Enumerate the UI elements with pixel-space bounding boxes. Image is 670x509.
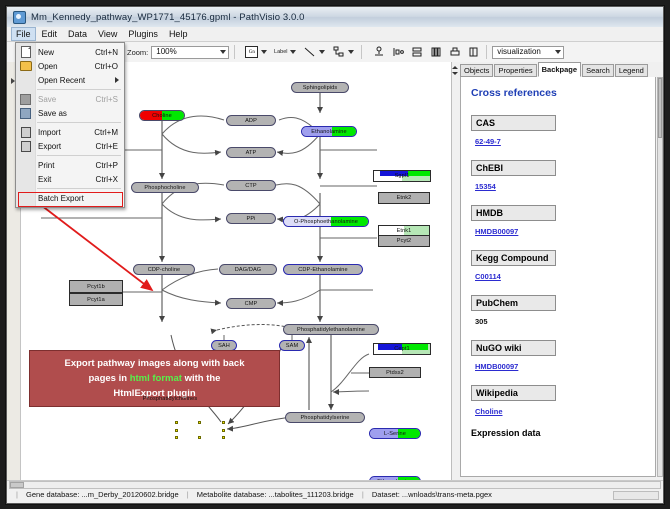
menu-item-open[interactable]: Open Ctrl+O [16,59,124,73]
status-text: | Gene database: ...m_Derby_20120602.bri… [13,490,495,499]
xref-pubchem: PubChem 305 [471,293,645,333]
xref-value-link[interactable]: HMDB00097 [475,362,518,371]
menu-item-new[interactable]: New Ctrl+N [16,45,124,59]
horizontal-scrollbar[interactable] [9,481,661,489]
xref-value-link[interactable]: Choline [475,407,503,416]
node-label: Ptdss2 [386,370,404,376]
label-tool-icon[interactable]: Label [273,45,288,60]
menu-help[interactable]: Help [164,27,193,41]
xref-hmdb: HMDB HMDB00097 [471,203,645,243]
tab-search[interactable]: Search [582,64,614,77]
new-document-icon [19,47,32,58]
cross-references-heading: Cross references [471,87,645,99]
side-panel-scrollbar[interactable] [657,77,663,477]
status-separator: | [187,490,189,499]
xref-nugo-wiki: NuGO wiki HMDB00097 [471,338,645,378]
tab-backpage[interactable]: Backpage [538,62,581,77]
node-label: ATP [246,150,257,156]
xref-chebi: ChEBI 15354 [471,158,645,198]
open-folder-icon [19,61,32,72]
node-label: PPi [246,216,255,222]
gene-product-tool-icon[interactable]: Gn [244,45,259,60]
menu-item-label: New [38,48,54,57]
node-label: DAG/DAG [235,267,262,273]
node-label: Phosphatidylserine [300,415,349,421]
menu-plugins[interactable]: Plugins [123,27,163,41]
node-label: SAH [218,343,230,349]
status-metabolite-database: Metabolite database: ...tabolites_111203… [197,490,354,499]
xref-label: PubChem [471,295,556,311]
node-label: CMP [245,301,258,307]
menu-separator [37,89,121,90]
status-gene-database: Gene database: ...m_Derby_20120602.bridg… [26,490,179,499]
menu-item-save: Save Ctrl+S [16,92,124,106]
stack-horizontal-tool-icon[interactable] [428,45,443,60]
node-label: L-Serine [384,431,406,437]
menu-item-save-as[interactable]: Save as [16,106,124,120]
menu-item-label: Exit [38,175,51,184]
line-tool-icon[interactable] [302,45,317,60]
status-dataset: Dataset: ...wnloads\trans-meta.pgex [372,490,492,499]
sidepanel-tool-icon[interactable] [466,45,481,60]
menu-file[interactable]: File [11,27,36,41]
menu-item-label: Import [38,128,61,137]
menu-item-open-recent[interactable]: Open Recent [16,73,124,87]
xref-label: Wikipedia [471,385,556,401]
toolbar-divider-3 [486,45,487,59]
node-label: CTP [245,183,257,189]
menu-item-label: Print [38,161,54,170]
tab-properties[interactable]: Properties [494,64,536,77]
side-panel-tabs: Objects Properties Backpage Search Legen… [460,64,663,77]
zoom-combobox[interactable]: 100% [151,46,229,59]
chevron-down-icon [555,50,561,54]
menu-bar: File Edit Data View Plugins Help [7,27,663,42]
menu-item-accelerator: Ctrl+O [95,62,118,71]
menu-item-accelerator: Ctrl+N [95,48,118,57]
node-label: Etnk2 [397,195,412,201]
label-dropdown-icon[interactable] [290,50,296,54]
node-label: Sgpl1 [395,173,410,179]
menu-item-exit[interactable]: Exit Ctrl+X [16,172,124,186]
line-dropdown-icon[interactable] [319,50,325,54]
node-label: SAM [286,343,298,349]
menu-item-import[interactable]: Import Ctrl+M [16,125,124,139]
node-label: Pcyt1a [87,297,105,303]
status-separator: | [16,490,18,499]
node-label: CDP-Ethanolamine [298,267,347,273]
node-label: Sphingolipids [303,85,338,91]
export-icon [19,141,32,152]
toolbar-divider [234,45,235,59]
menu-item-accelerator: Ctrl+E [96,142,118,151]
save-icon [19,94,32,105]
scrollbar-thumb[interactable] [658,78,662,138]
menu-separator [37,122,121,123]
submenu-chevron-right-icon [115,77,119,83]
align-left-tool-icon[interactable] [390,45,405,60]
node-label: Choline [152,113,172,119]
xref-cas: CAS 62-49-7 [471,113,645,153]
node-label: Phosphocholine [144,185,185,191]
save-as-icon [19,108,32,119]
menu-item-export[interactable]: Export Ctrl+E [16,139,124,153]
tab-legend[interactable]: Legend [615,64,648,77]
application-window: Mm_Kennedy_pathway_WP1771_45176.gpml - P… [6,6,664,504]
node-label: Pcyt2 [397,238,412,244]
xref-value-link[interactable]: HMDB00097 [475,227,518,236]
menu-edit[interactable]: Edit [37,27,63,41]
menu-item-label: Open Recent [38,76,85,85]
tab-objects[interactable]: Objects [460,64,493,77]
callout-line-2a: pages in [89,373,130,384]
callout-line-1: Export pathway images along with back [64,358,244,369]
file-menu-dropdown[interactable]: New Ctrl+N Open Ctrl+O Open Recent Save … [15,42,125,208]
menu-data[interactable]: Data [63,27,92,41]
node-label: O-Phosphoethanolamine [294,219,358,225]
menu-separator [37,155,121,156]
window-title: Mm_Kennedy_pathway_WP1771_45176.gpml - P… [31,12,305,23]
xref-label: HMDB [471,205,556,221]
node-label: Phosphatidylcholines [143,396,198,402]
interaction-dropdown-icon[interactable] [348,50,354,54]
xref-label: ChEBI [471,160,556,176]
node-label: CDP-choline [148,267,181,273]
status-right-slot [613,491,659,500]
visualization-combobox[interactable]: visualization [492,46,564,59]
side-panel: Objects Properties Backpage Search Legen… [452,62,663,480]
node-label: Ethanolamine [311,129,346,135]
scrollbar-thumb[interactable] [10,482,24,488]
xref-value-text: 305 [475,317,488,326]
zoom-value: 100% [156,46,176,58]
xref-label: Kegg Compound [471,250,556,266]
align-top-tool-icon[interactable] [371,45,386,60]
xref-label: CAS [471,115,556,131]
callout-line-2b: with the [182,373,221,384]
xref-value-link[interactable]: 15354 [475,182,496,191]
tab-scroll-arrows[interactable] [452,66,458,75]
status-separator: | [362,490,364,499]
xref-wikipedia: Wikipedia Choline [471,383,645,423]
menu-item-accelerator: Ctrl+M [94,128,118,137]
title-bar: Mm_Kennedy_pathway_WP1771_45176.gpml - P… [7,7,663,28]
menu-item-label: Open [38,62,58,71]
xref-value-link[interactable]: 62-49-7 [475,137,501,146]
node-label: Etnk1 [397,228,412,234]
menu-separator [37,188,121,189]
menu-item-accelerator: Ctrl+S [96,95,118,104]
pathvisio-icon [13,11,26,24]
menu-view[interactable]: View [93,27,122,41]
expression-data-heading: Expression data [471,428,645,438]
chevron-down-icon [220,50,226,54]
visualization-value: visualization [497,46,541,58]
node-label: Pcyt1b [87,284,105,290]
node-label: Ethanolamine [377,479,412,481]
zoom-label: Zoom: [127,48,148,57]
toolbar-divider-2 [361,45,362,59]
backpage-content: Cross references CAS 62-49-7 ChEBI 15354… [460,77,656,477]
print-tool-icon[interactable] [447,45,462,60]
interaction-tool-icon[interactable] [331,45,346,60]
callout-highlight: html format [130,373,182,384]
menu-item-accelerator: Ctrl+X [96,175,118,184]
xref-kegg-compound: Kegg Compound C00114 [471,248,645,288]
menu-item-label: Save as [38,109,67,118]
menu-item-accelerator: Ctrl+P [96,161,118,170]
import-icon [19,127,32,138]
node-label: Phosphatidylethanolamine [297,327,365,333]
screenshot-root: Mm_Kennedy_pathway_WP1771_45176.gpml - P… [0,0,670,509]
node-label: Cept1 [394,346,409,352]
node-label: ADP [245,118,257,124]
menu-item-print[interactable]: Print Ctrl+P [16,158,124,172]
status-bar: | Gene database: ...m_Derby_20120602.bri… [7,480,663,504]
menu-item-batch-export[interactable]: Batch Export [16,191,124,205]
gene-product-dropdown-icon[interactable] [261,50,267,54]
menu-item-label: Batch Export [38,194,84,203]
menu-item-label: Save [38,95,56,104]
stack-vertical-tool-icon[interactable] [409,45,424,60]
xref-value-link[interactable]: C00114 [475,272,501,281]
xref-label: NuGO wiki [471,340,556,356]
menu-item-label: Export [38,142,61,151]
